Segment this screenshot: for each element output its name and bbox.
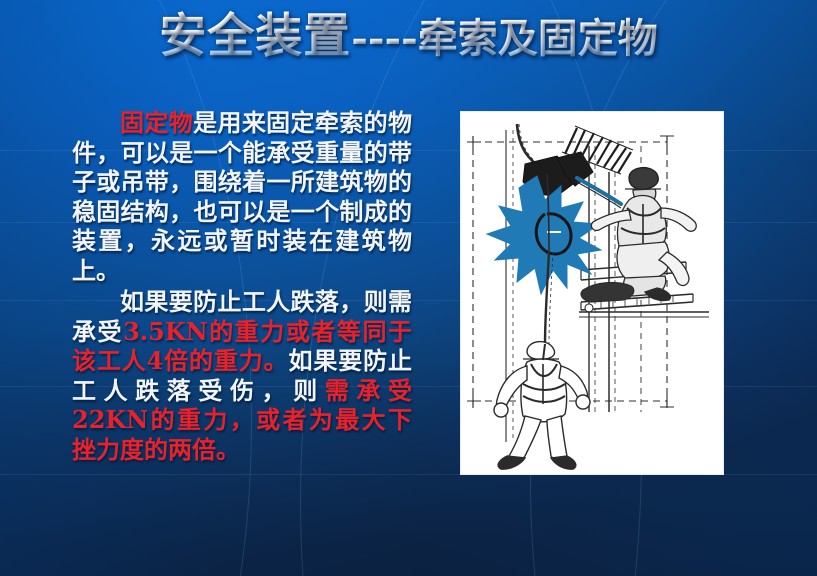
slide-canvas: 安全装置----牵索及固定物 安全装置----牵索及固定物 固定物是用来固定牵索…	[0, 0, 817, 576]
paragraph-load-requirements: 如果要防止工人跌落，则需承受3.5KN的重力或者等同于该工人4倍的重力。如果要防…	[72, 287, 412, 464]
slide-title-main: 安全装置	[159, 9, 351, 64]
slide-title: 安全装置----牵索及固定物	[0, 6, 817, 70]
paragraph-definition: 固定物是用来固定牵索的物件，可以是一个能承受重量的带子或吊带，围绕着一所建筑物的…	[72, 108, 412, 285]
term-anchor-point: 固定物	[120, 108, 193, 137]
fall-arrest-anchor-illustration	[461, 112, 723, 474]
slide-title-subtitle: ----牵索及固定物	[351, 15, 657, 62]
slide-body-text: 固定物是用来固定牵索的物件，可以是一个能承受重量的带子或吊带，围绕着一所建筑物的…	[72, 108, 412, 464]
